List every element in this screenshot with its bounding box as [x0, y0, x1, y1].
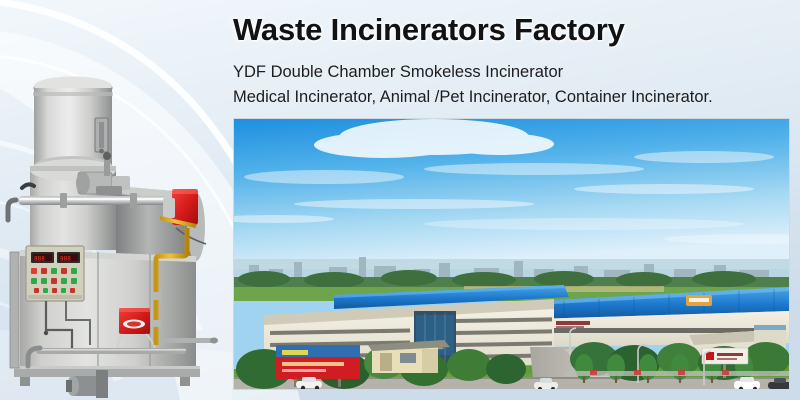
subtitle-line-2: Medical Incinerator, Animal /Pet Inciner… — [233, 88, 713, 107]
gatehouse — [368, 340, 450, 373]
svg-text:888: 888 — [34, 256, 45, 263]
product-banner: 888 888 — [0, 0, 800, 400]
subtitle-line-1: YDF Double Chamber Smokeless Incinerator — [233, 63, 563, 82]
page-title: Waste Incinerators Factory — [233, 12, 625, 48]
factory-photo-scene — [234, 119, 790, 390]
factory-photo — [233, 118, 790, 390]
vehicle-far — [686, 295, 712, 306]
svg-text:888: 888 — [60, 256, 71, 263]
control-panel: 888 888 — [26, 246, 84, 301]
product-image-incinerator: 888 888 — [0, 0, 232, 400]
